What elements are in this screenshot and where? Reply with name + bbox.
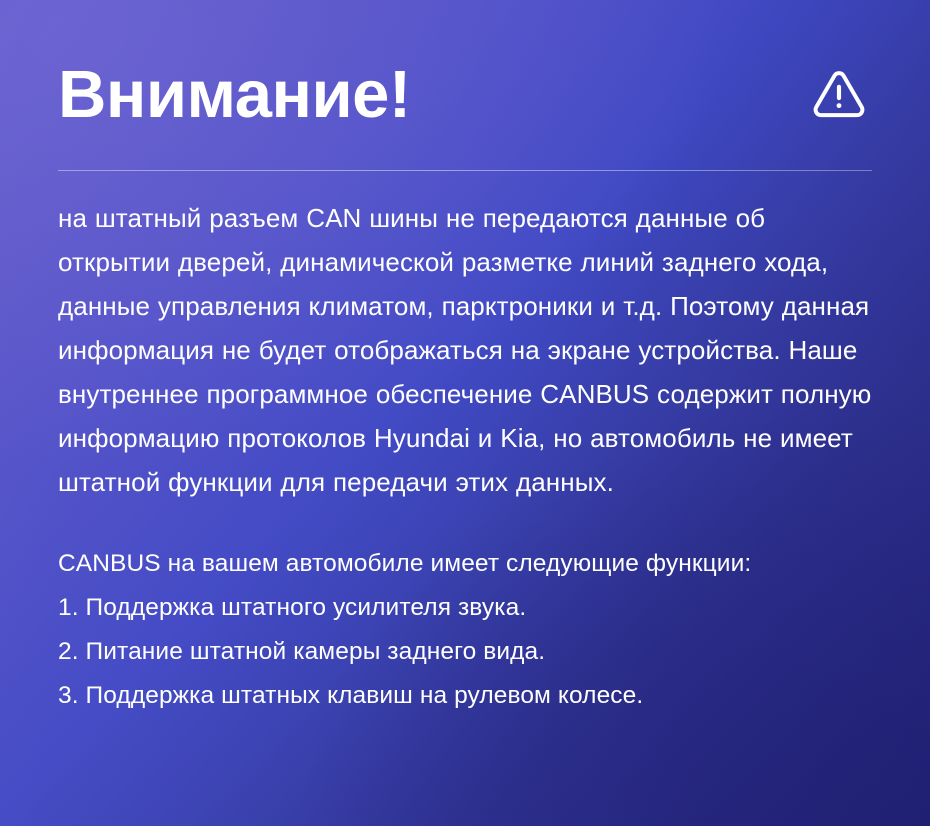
features-lead: CANBUS на вашем автомобиле имеет следующ… (58, 542, 876, 586)
features-section: CANBUS на вашем автомобиле имеет следующ… (58, 542, 876, 718)
warning-triangle-icon (808, 63, 870, 125)
list-item: 2. Питание штатной камеры заднего вида. (58, 630, 876, 674)
notice-paragraph: на штатный разъем CAN шины не передаются… (58, 196, 876, 504)
banner-header: Внимание! (0, 48, 930, 140)
list-item: 1. Поддержка штатного усилителя звука. (58, 586, 876, 630)
banner-body: на штатный разъем CAN шины не передаются… (58, 196, 876, 718)
list-item: 3. Поддержка штатных клавиш на рулевом к… (58, 674, 876, 718)
warning-banner: Внимание! на штатный разъем CAN шины не … (0, 0, 930, 826)
page-title: Внимание! (58, 61, 411, 128)
features-list: 1. Поддержка штатного усилителя звука. 2… (58, 586, 876, 718)
header-divider (58, 170, 872, 171)
